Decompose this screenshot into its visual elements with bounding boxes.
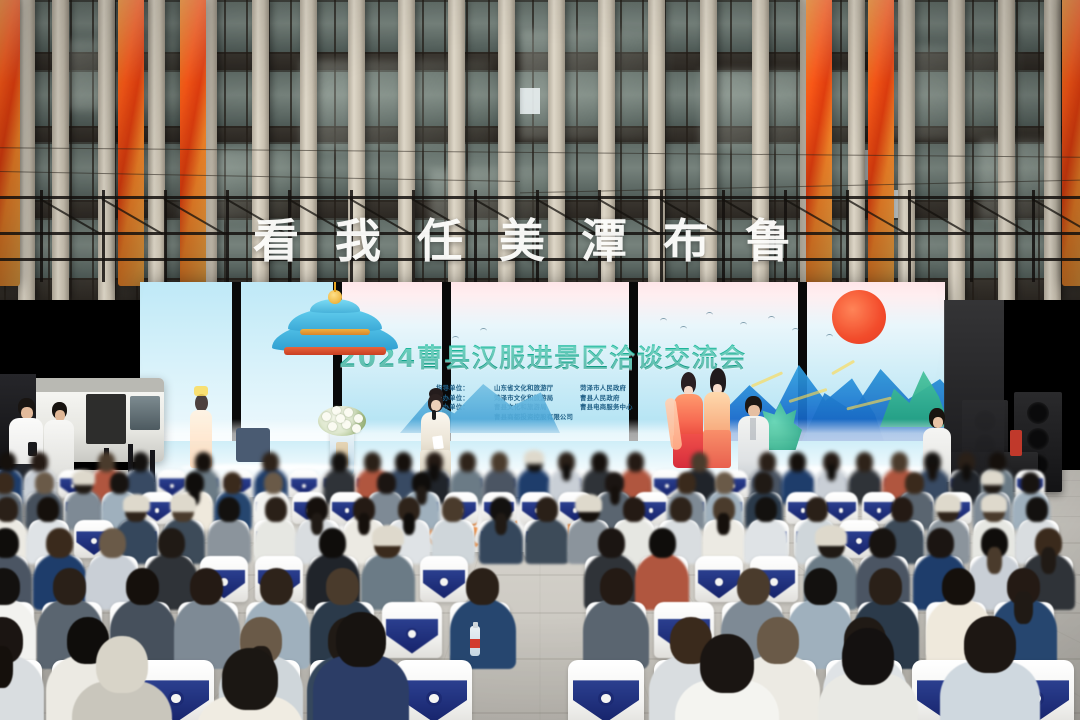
- audience-head: [0, 452, 16, 471]
- audience-head: [0, 528, 19, 558]
- audience-head: [491, 452, 508, 471]
- audience-cap: [123, 494, 149, 512]
- audience-member: [0, 617, 23, 720]
- audience-member: [578, 497, 600, 561]
- audience-head: [0, 472, 14, 493]
- audience-cap: [372, 525, 404, 547]
- water-bottle: [470, 626, 480, 656]
- audience-head: [377, 472, 396, 493]
- audience-member: [377, 472, 396, 527]
- audience-head: [806, 497, 828, 522]
- chair-sash-button: [301, 483, 307, 489]
- audience-head: [700, 634, 754, 693]
- chair-sash-button: [169, 483, 175, 489]
- audience-head: [649, 528, 676, 558]
- audience-member: [442, 497, 464, 561]
- audience-member: [99, 528, 126, 607]
- audience-member: [190, 568, 223, 664]
- audience-head: [759, 452, 776, 471]
- audience-head: [789, 452, 806, 471]
- audience-member: [158, 528, 185, 607]
- chair-sash-button: [876, 507, 883, 514]
- audience-chair: [420, 556, 468, 602]
- event-photo-scene: 看我任美潭布鲁 2024曹县汉服进景区洽谈交流会 指导单位： 山东省文化和旅游厅…: [0, 0, 1080, 720]
- audience-torso: [525, 518, 569, 565]
- audience-member: [536, 497, 558, 561]
- audience-ponytail: [495, 513, 507, 535]
- audience-head: [99, 528, 126, 558]
- audience-head: [262, 452, 279, 471]
- audience-head: [755, 497, 777, 522]
- audience-head: [856, 452, 873, 471]
- audience-head: [536, 497, 558, 522]
- audience-head: [110, 472, 129, 493]
- audience-head: [190, 568, 223, 605]
- audience-member: [490, 497, 512, 561]
- chair-sash-button: [769, 577, 779, 587]
- audience-head: [670, 497, 692, 522]
- audience-torso: [583, 598, 649, 668]
- chair-sash-button: [439, 577, 449, 587]
- audience-head: [623, 497, 645, 522]
- audience-chair: [695, 556, 743, 602]
- audience-member: [374, 528, 401, 607]
- audience-head: [96, 636, 148, 693]
- front-audience-cap: [96, 636, 148, 720]
- audience-cap: [935, 494, 961, 512]
- audience-head: [132, 452, 149, 471]
- audience-head: [37, 497, 59, 522]
- audience-head: [891, 497, 913, 522]
- front-audience-far-right: [964, 616, 1016, 720]
- audience-cap: [170, 494, 196, 512]
- audience-cap: [981, 494, 1007, 512]
- audience-member: [713, 497, 735, 561]
- front-audience-blue-shirt: [336, 612, 386, 720]
- front-audience-left: [222, 648, 278, 720]
- audience-member: [125, 497, 147, 561]
- audience-ponytail: [928, 464, 938, 481]
- audience-head: [46, 528, 73, 558]
- audience-member: [755, 497, 777, 561]
- audience-head: [677, 472, 696, 493]
- chair-sash-button: [426, 691, 441, 706]
- audience-head: [223, 472, 242, 493]
- audience-ponytail: [358, 513, 370, 535]
- audience-head: [869, 568, 902, 605]
- audience-head: [804, 568, 837, 605]
- audience-head: [715, 472, 734, 493]
- audience-head: [927, 528, 954, 558]
- audience-ponytail: [717, 513, 729, 535]
- audience-ponytail: [987, 547, 1002, 574]
- chair-sash-button: [154, 507, 161, 514]
- audience-head: [1021, 472, 1040, 493]
- audience-member: [981, 528, 1008, 607]
- audience-member: [623, 497, 645, 561]
- chair-sash-button: [598, 691, 613, 706]
- chair-sash-button: [344, 507, 351, 514]
- audience-head: [326, 568, 359, 605]
- audience-head: [53, 568, 86, 605]
- chair-sash-button: [714, 577, 724, 587]
- audience-head: [336, 612, 386, 667]
- audience-ponytail: [962, 464, 972, 481]
- audience-head: [319, 528, 346, 558]
- audience-head: [31, 452, 48, 471]
- audience-member: [353, 497, 375, 561]
- audience-head: [364, 452, 381, 471]
- audience-head: [466, 568, 499, 605]
- audience-cap: [72, 470, 95, 485]
- bottle-cap: [473, 622, 478, 628]
- front-audience-white-shirt: [700, 634, 754, 720]
- audience-head: [600, 568, 633, 605]
- audience-member: [265, 497, 287, 561]
- audience-head: [126, 568, 159, 605]
- audience-ponytail: [562, 464, 572, 481]
- audience-head: [757, 617, 799, 664]
- audience-ponytail: [1014, 591, 1032, 624]
- audience-head: [0, 497, 18, 522]
- audience-head: [195, 452, 212, 471]
- audience-head: [1026, 497, 1048, 522]
- audience-cap: [981, 470, 1004, 485]
- audience-head: [98, 452, 115, 471]
- audience-head: [0, 568, 20, 605]
- audience-head: [905, 472, 924, 493]
- audience-cap: [815, 525, 847, 547]
- audience-cap: [575, 494, 601, 512]
- audience-head: [989, 452, 1006, 471]
- audience-head: [869, 528, 896, 558]
- seated-audience: [0, 0, 1080, 720]
- audience-head: [591, 452, 608, 471]
- audience-head: [691, 452, 708, 471]
- audience-torso: [450, 598, 516, 668]
- audience-ponytail: [403, 513, 415, 535]
- audience-head: [627, 452, 644, 471]
- audience-head: [158, 528, 185, 558]
- audience-head: [737, 568, 770, 605]
- chair-sash-button: [168, 691, 183, 706]
- audience-head: [842, 628, 894, 685]
- audience-head: [222, 648, 278, 710]
- audience-head: [964, 616, 1016, 673]
- audience-head: [598, 528, 625, 558]
- audience-chair: [568, 660, 644, 720]
- audience-head: [218, 497, 240, 522]
- audience-cap: [524, 450, 544, 464]
- chair-sash-button: [648, 507, 655, 514]
- audience-head: [331, 452, 348, 471]
- audience-head: [442, 497, 464, 522]
- audience-chair: [382, 602, 442, 658]
- audience-head: [260, 568, 293, 605]
- audience-head: [264, 472, 283, 493]
- audience-head: [891, 452, 908, 471]
- chair-sash-button: [664, 483, 670, 489]
- audience-head: [459, 452, 476, 471]
- audience-head: [942, 568, 975, 605]
- audience-ponytail: [610, 486, 621, 505]
- audience-ponytail: [1041, 547, 1056, 574]
- audience-head: [395, 452, 412, 471]
- audience-head: [35, 472, 54, 493]
- front-audience-right: [842, 628, 894, 720]
- bottle-label: [470, 639, 480, 648]
- audience-head: [754, 472, 773, 493]
- chair-sash-button: [838, 507, 845, 514]
- chair-sash-button: [406, 628, 418, 640]
- audience-member: [804, 568, 837, 664]
- audience-ponytail: [827, 464, 837, 481]
- audience-member: [649, 528, 676, 607]
- audience-head: [265, 497, 287, 522]
- audience-member: [600, 568, 633, 664]
- audience-member: [218, 497, 240, 561]
